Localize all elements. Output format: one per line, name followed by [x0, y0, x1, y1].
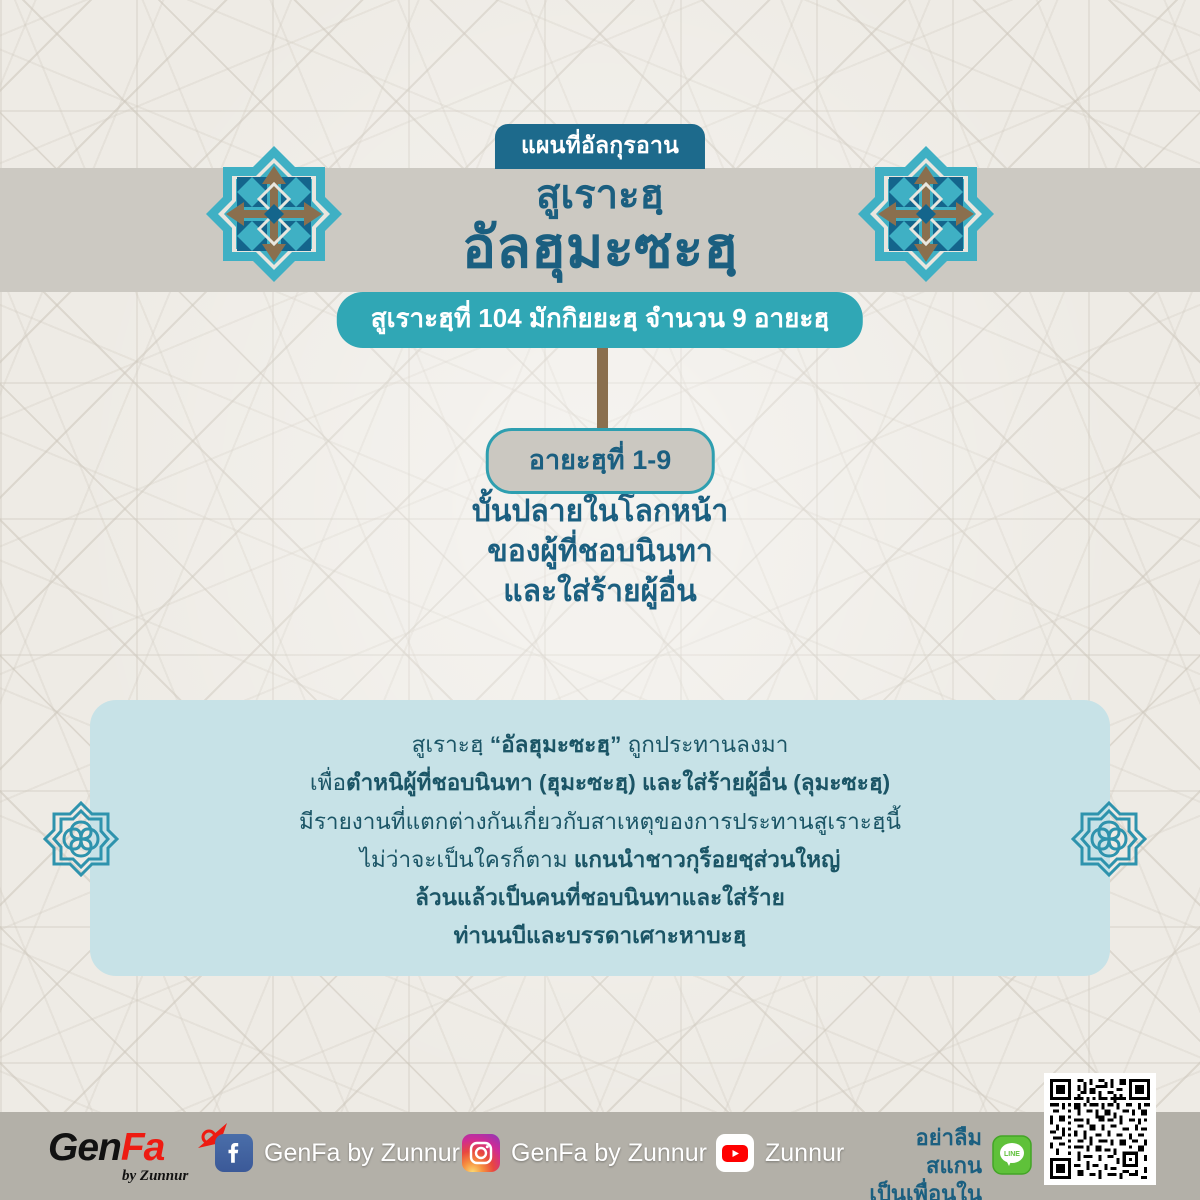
star-ornament-left — [204, 144, 344, 289]
svg-text:LINE: LINE — [1004, 1151, 1020, 1158]
star-ornament-right — [856, 144, 996, 289]
body-line-4-a: ไม่ว่าจะเป็นใครก็ตาม — [360, 847, 574, 872]
youtube-label: Zunnur — [765, 1139, 844, 1168]
body-line-2-b: ตำหนิผู้ที่ชอบนินทา (ฮุมะซะฮฺ) และใส่ร้า… — [346, 770, 890, 795]
body-line-6: ท่านนบีและบรรดาเศาะหาบะฮฺ — [90, 917, 1110, 955]
instagram-link[interactable]: GenFa by Zunnur — [462, 1134, 707, 1172]
body-line-2: เพื่อตำหนิผู้ที่ชอบนินทา (ฮุมะซะฮฺ) และใ… — [90, 764, 1110, 802]
ayah-range-badge: อายะฮฺที่ 1-9 — [486, 428, 715, 494]
surah-name: อัลฮุมะซะฮฺ — [0, 217, 1200, 281]
body-line-1-a: สูเราะฮฺ — [412, 732, 490, 757]
body-text: สูเราะฮฺ “อัลฮุมะซะฮฺ” ถูกประทานลงมา เพื… — [90, 726, 1110, 956]
body-line-2-a: เพื่อ — [310, 770, 346, 795]
surah-word: สูเราะฮฺ — [0, 172, 1200, 219]
infographic-canvas: แผนที่อัลกุรอาน สูเราะฮฺ อัลฮุมะซะฮฺ สูเ… — [0, 0, 1200, 1200]
scan-prompt-line-1: อย่าลืมสแกน — [862, 1124, 982, 1180]
ayah-desc-line-1: บั้นปลายในโลกหน้า — [0, 492, 1200, 532]
genfa-logo-fa: Fa — [121, 1126, 165, 1169]
facebook-icon — [215, 1134, 253, 1172]
facebook-label: GenFa by Zunnur — [264, 1139, 460, 1168]
facebook-link[interactable]: GenFa by Zunnur — [215, 1134, 460, 1172]
body-line-3: มีรายงานที่แตกต่างกันเกี่ยวกับสาเหตุของก… — [90, 803, 1110, 841]
genfa-logo-text: GenFa — [48, 1128, 164, 1167]
scan-prompt: อย่าลืมสแกน เป็นเพื่อนใน — [862, 1124, 982, 1200]
body-line-1-b: “อัลฮุมะซะฮฺ” — [490, 732, 622, 757]
surah-subtitle: สูเราะฮฺที่ 104 มักกิยยะฮฺ จำนวน 9 อายะฮ… — [337, 292, 863, 348]
map-tab-label: แผนที่อัลกุรอาน — [495, 124, 705, 169]
youtube-link[interactable]: Zunnur — [716, 1134, 844, 1172]
genfa-logo-tagline: by Zunnur — [122, 1168, 188, 1185]
ayah-desc-line-2: ของผู้ที่ชอบนินทา — [0, 532, 1200, 572]
line-qr-code — [1044, 1073, 1156, 1185]
genfa-logo-gen: Gen — [48, 1126, 121, 1169]
header-title-group: สูเราะฮฺ อัลฮุมะซะฮฺ — [0, 172, 1200, 281]
instagram-label: GenFa by Zunnur — [511, 1139, 707, 1168]
ayah-desc-line-3: และใส่ร้ายผู้อื่น — [0, 572, 1200, 612]
ayah-description: บั้นปลายในโลกหน้า ของผู้ที่ชอบนินทา และใ… — [0, 492, 1200, 612]
instagram-icon — [462, 1134, 500, 1172]
scan-prompt-line-2: เป็นเพื่อนใน — [862, 1180, 982, 1200]
body-line-1: สูเราะฮฺ “อัลฮุมะซะฮฺ” ถูกประทานลงมา — [90, 726, 1110, 764]
body-line-5: ล้วนแล้วเป็นคนที่ชอบนินทาและใส่ร้าย — [90, 879, 1110, 917]
youtube-icon — [716, 1134, 754, 1172]
line-icon[interactable]: LINE — [992, 1135, 1032, 1180]
genfa-logo: GenFa by Zunnur — [48, 1124, 223, 1186]
body-line-4-b: แกนนำชาวกุร็อยชฺส่วนใหญ่ — [574, 847, 840, 872]
body-line-4: ไม่ว่าจะเป็นใครก็ตาม แกนนำชาวกุร็อยชฺส่ว… — [90, 841, 1110, 879]
body-line-1-c: ถูกประทานลงมา — [621, 732, 788, 757]
